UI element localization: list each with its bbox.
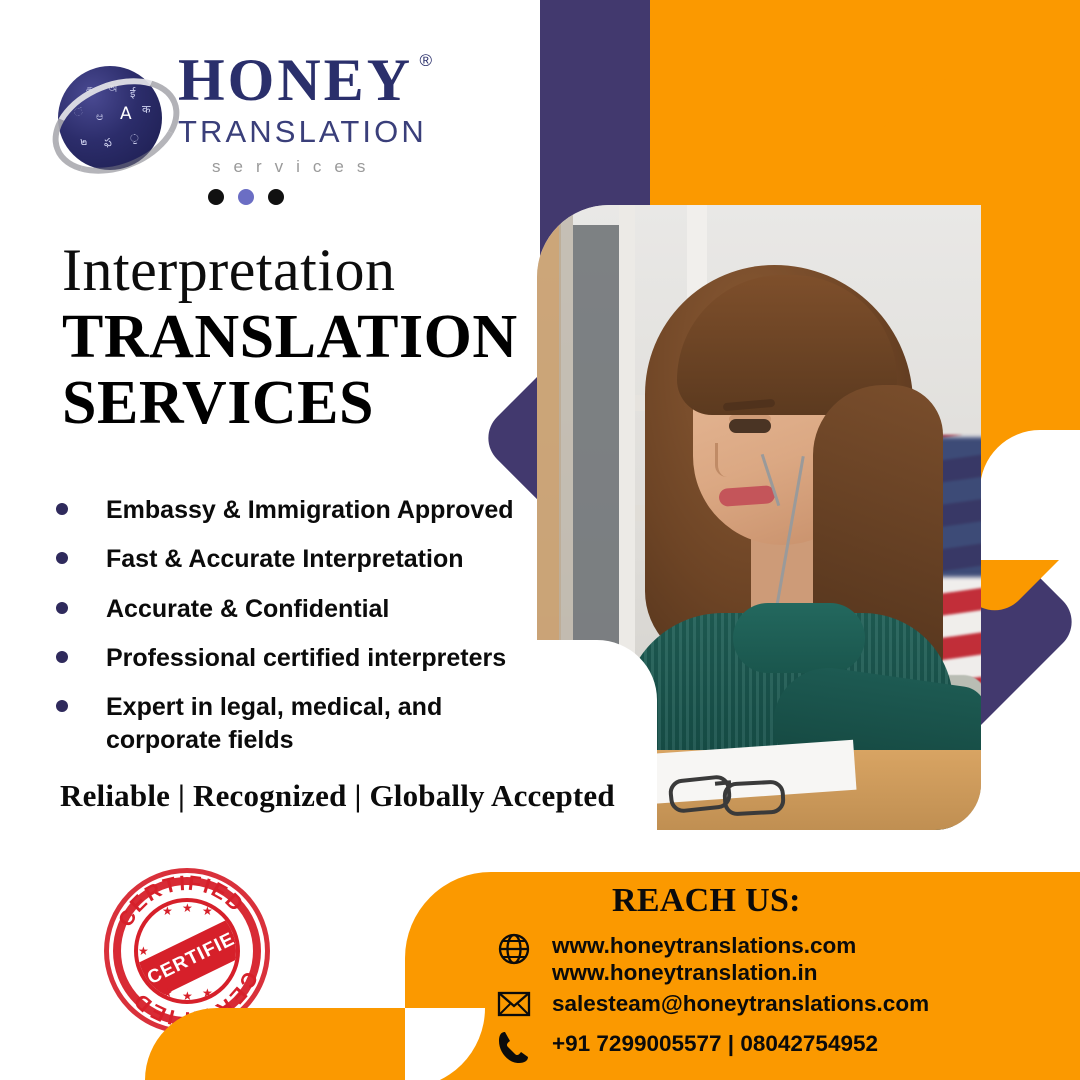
feature-text: Fast & Accurate Interpretation	[106, 543, 463, 576]
page-title: TRANSLATION SERVICES	[62, 305, 518, 436]
feature-text: Embassy & Immigration Approved	[106, 494, 514, 527]
contact-row-website[interactable]: www.honeytranslations.com www.honeytrans…	[492, 932, 856, 987]
globe-languages-icon: க অ ई ં ಆ A क ๒ ఫ ੁ	[52, 60, 168, 176]
contact-panel-step	[145, 1008, 445, 1080]
headline-script: Interpretation	[62, 236, 396, 305]
decorative-dots	[208, 189, 284, 205]
bullet-dot-icon	[56, 602, 68, 614]
phone-numbers[interactable]: +91 7299005577 | 08042754952	[552, 1030, 878, 1057]
dot-2	[238, 189, 254, 205]
registered-trademark-icon: ®	[420, 52, 436, 69]
contact-row-email[interactable]: salesteam@honeytranslations.com	[492, 990, 929, 1018]
website-line-2[interactable]: www.honeytranslation.in	[552, 960, 817, 985]
logo-name-primary: HONEY	[178, 47, 413, 113]
list-item: Embassy & Immigration Approved	[56, 494, 526, 527]
bullet-dot-icon	[56, 651, 68, 663]
contact-heading: REACH US:	[612, 882, 801, 920]
website-links[interactable]: www.honeytranslations.com www.honeytrans…	[552, 932, 856, 987]
bullet-dot-icon	[56, 503, 68, 515]
headline-line-2: SERVICES	[62, 371, 518, 437]
feature-list: Embassy & Immigration Approved Fast & Ac…	[56, 494, 526, 774]
envelope-icon	[492, 990, 536, 1018]
list-item: Fast & Accurate Interpretation	[56, 543, 526, 576]
feature-text: Expert in legal, medical, and corporate …	[106, 691, 446, 758]
dot-3	[268, 189, 284, 205]
white-cutout-right	[980, 430, 1080, 560]
poster-canvas: க অ ई ં ಆ A क ๒ ఫ ੁ HONEY ® TRANSLATION …	[0, 0, 1080, 1080]
phone-icon	[492, 1030, 536, 1066]
bullet-dot-icon	[56, 700, 68, 712]
list-item: Professional certified interpreters	[56, 642, 526, 675]
brand-logo[interactable]: க অ ई ં ಆ A क ๒ ఫ ੁ HONEY ® TRANSLATION …	[52, 50, 472, 190]
dot-1	[208, 189, 224, 205]
email-address[interactable]: salesteam@honeytranslations.com	[552, 990, 929, 1017]
globe-icon	[492, 932, 536, 966]
logo-name-tertiary: services	[212, 157, 427, 177]
list-item: Accurate & Confidential	[56, 593, 526, 626]
tagline: Reliable | Recognized | Globally Accepte…	[60, 778, 615, 814]
list-item: Expert in legal, medical, and corporate …	[56, 691, 526, 758]
website-line-1[interactable]: www.honeytranslations.com	[552, 933, 856, 958]
feature-text: Professional certified interpreters	[106, 642, 506, 675]
contact-row-phone[interactable]: +91 7299005577 | 08042754952	[492, 1030, 878, 1066]
feature-text: Accurate & Confidential	[106, 593, 389, 626]
logo-name-secondary: TRANSLATION	[178, 114, 427, 150]
bullet-dot-icon	[56, 552, 68, 564]
headline-line-1: TRANSLATION	[62, 305, 518, 371]
